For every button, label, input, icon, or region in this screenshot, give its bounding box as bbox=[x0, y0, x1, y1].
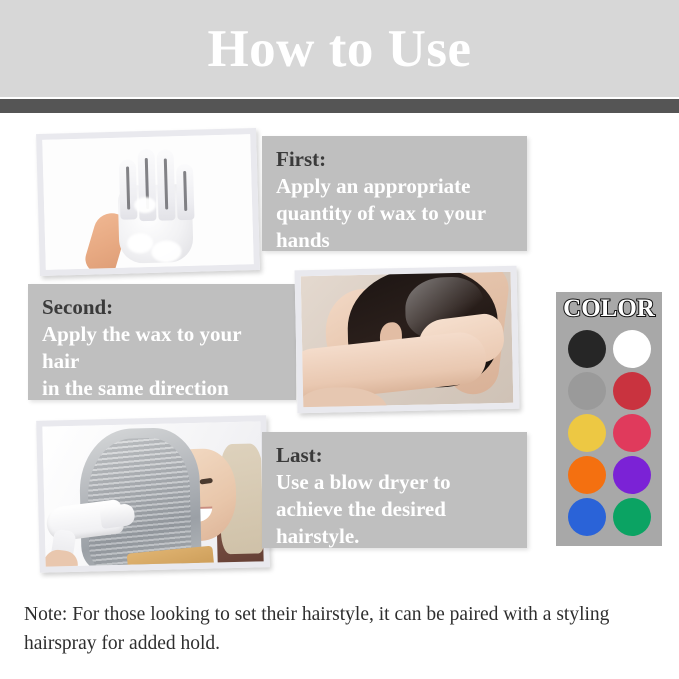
step-body-last: Use a blow dryer to achieve the desired … bbox=[276, 469, 513, 550]
footer-note: Note: For those looking to set their hai… bbox=[24, 600, 644, 658]
photo-card-step-1 bbox=[36, 128, 260, 276]
step-body-first: Apply an appropriate quantity of wax to … bbox=[276, 173, 513, 254]
color-panel-title: COLOR bbox=[556, 294, 662, 324]
step-panel-last: Last: Use a blow dryer to achieve the de… bbox=[262, 432, 527, 548]
silver-hair-shape bbox=[78, 427, 201, 567]
finger-shape bbox=[176, 164, 195, 220]
color-swatch-pink[interactable] bbox=[613, 414, 651, 452]
header-divider-bar bbox=[0, 99, 679, 113]
hair-application-photo bbox=[301, 272, 514, 407]
hand-wax-photo bbox=[42, 134, 254, 270]
color-swatch-panel: COLOR bbox=[556, 292, 662, 546]
step-panel-second: Second: Apply the wax to your hair in th… bbox=[28, 284, 296, 400]
color-swatch-green[interactable] bbox=[613, 498, 651, 536]
color-swatch-yellow[interactable] bbox=[568, 414, 606, 452]
color-swatch-purple[interactable] bbox=[613, 456, 651, 494]
step-body-second: Apply the wax to your hair in the same d… bbox=[42, 321, 282, 429]
color-swatch-crimson[interactable] bbox=[613, 372, 651, 410]
step-label-last: Last: bbox=[276, 442, 513, 469]
color-swatch-orange[interactable] bbox=[568, 456, 606, 494]
blow-dryer-photo bbox=[42, 421, 263, 566]
color-swatch-gray[interactable] bbox=[568, 372, 606, 410]
photo-card-step-3 bbox=[36, 415, 270, 573]
step-panel-first: First: Apply an appropriate quantity of … bbox=[262, 136, 527, 251]
step-label-first: First: bbox=[276, 146, 513, 173]
finger-shape bbox=[119, 159, 138, 219]
color-swatch-grid bbox=[564, 328, 654, 538]
color-swatch-blue[interactable] bbox=[568, 498, 606, 536]
color-swatch-black[interactable] bbox=[568, 330, 606, 368]
photo-card-step-2 bbox=[295, 266, 520, 414]
page-title: How to Use bbox=[0, 18, 679, 80]
color-swatch-white[interactable] bbox=[613, 330, 651, 368]
finger-shape bbox=[157, 149, 176, 220]
step-label-second: Second: bbox=[42, 294, 282, 321]
